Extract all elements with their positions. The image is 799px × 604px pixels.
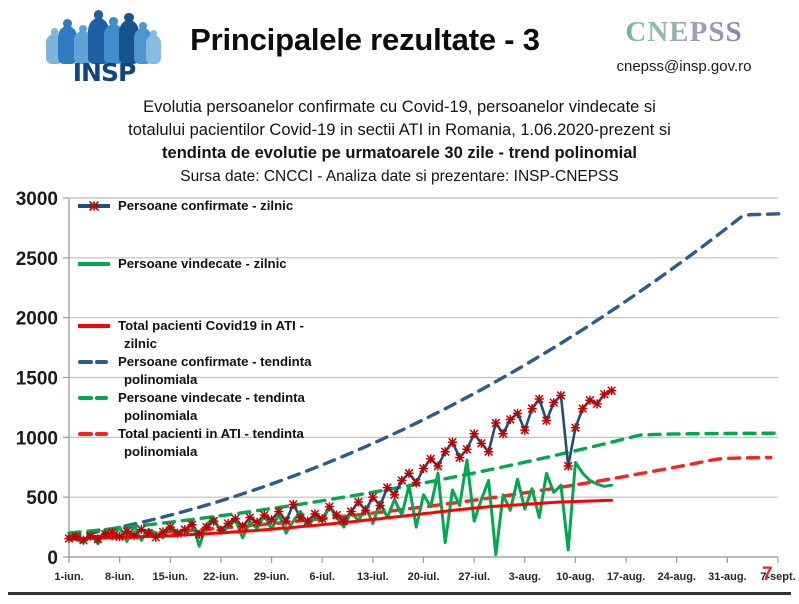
- legend-item-label-cont: polinomiala: [124, 444, 198, 459]
- legend-item-label[interactable]: Persoane vindecate - tendinta: [118, 390, 306, 405]
- cnepss-email: cnepss@insp.gov.ro: [584, 58, 784, 75]
- x-axis-tick-label: 29-iun.: [254, 571, 289, 583]
- x-axis-tick-label: 13-iul.: [357, 571, 389, 583]
- chart-legend: Persoane confirmate - zilnicPersoane vin…: [78, 198, 312, 459]
- legend-item-label[interactable]: Total pacienti Covid19 in ATI -: [118, 318, 304, 333]
- x-axis-tick-label: 20-iul.: [408, 571, 440, 583]
- footer-rule: [8, 592, 791, 595]
- x-axis-tick-label: 24-aug.: [657, 571, 696, 583]
- slide-root: INSP Principalele rezultate - 3 CNEPSS c…: [0, 0, 799, 604]
- x-axis-tick-label: 27-iul.: [458, 571, 490, 583]
- chart-svg: 0500100015002000250030001-iun.8-iun.15-i…: [0, 190, 799, 585]
- insp-logo-text: INSP: [48, 60, 160, 86]
- x-axis-tick-label: 10-aug.: [556, 571, 595, 583]
- x-axis-tick-label: 17-aug.: [607, 571, 646, 583]
- x-axis-tick-label: 31-aug.: [708, 571, 747, 583]
- x-axis-tick-label: 3-aug.: [509, 571, 541, 583]
- y-axis-tick-label: 3000: [16, 190, 58, 210]
- legend-item-label-cont: zilnic: [124, 336, 157, 351]
- covid-line-chart: 0500100015002000250030001-iun.8-iun.15-i…: [0, 190, 799, 585]
- legend-item-label[interactable]: Persoane vindecate - zilnic: [118, 256, 287, 271]
- y-axis-tick-label: 0: [47, 548, 58, 569]
- chart-subtitle-block: Evolutia persoanelor confirmate cu Covid…: [0, 96, 799, 188]
- x-axis-tick-label: 15-iun.: [153, 571, 188, 583]
- legend-item-label-cont: polinomiala: [124, 372, 198, 387]
- insp-people-icon: [44, 8, 162, 64]
- subtitle-line-1: Evolutia persoanelor confirmate cu Covid…: [0, 96, 799, 119]
- legend-item-label[interactable]: Persoane confirmate - zilnic: [118, 198, 293, 213]
- insp-logo: INSP: [44, 8, 162, 86]
- legend-item-label-cont: polinomiala: [124, 408, 198, 423]
- y-axis-tick-label: 500: [26, 488, 58, 509]
- legend-item-label[interactable]: Total pacienti in ATI - tendinta: [118, 426, 305, 441]
- y-axis-tick-label: 2500: [16, 249, 58, 270]
- x-axis-tick-label: 8-iun.: [105, 571, 134, 583]
- subtitle-source-line: Sursa date: CNCCI - Analiza date si prez…: [0, 165, 799, 188]
- legend-item-label[interactable]: Persoane confirmate - tendinta: [118, 354, 312, 369]
- subtitle-line-3: tendinta de evolutie pe urmatoarele 30 z…: [0, 142, 799, 165]
- subtitle-line-2: totalului pacientilor Covid-19 in sectii…: [0, 119, 799, 142]
- y-axis-tick-label: 1000: [16, 428, 58, 449]
- cnepss-logo-text: CNEPSS: [594, 16, 774, 49]
- series-line-daily: [69, 460, 612, 555]
- page-title: Principalele rezultate - 3: [150, 22, 580, 58]
- x-axis-tick-label: 22-iun.: [203, 571, 238, 583]
- y-axis-tick-label: 1500: [16, 369, 58, 390]
- slide-header: INSP Principalele rezultate - 3 CNEPSS c…: [0, 0, 799, 92]
- y-axis-tick-label: 2000: [16, 309, 58, 330]
- x-axis-tick-label: 1-iun.: [54, 571, 83, 583]
- page-number: 7: [762, 564, 773, 586]
- x-axis-tick-label: 6-iul.: [309, 571, 335, 583]
